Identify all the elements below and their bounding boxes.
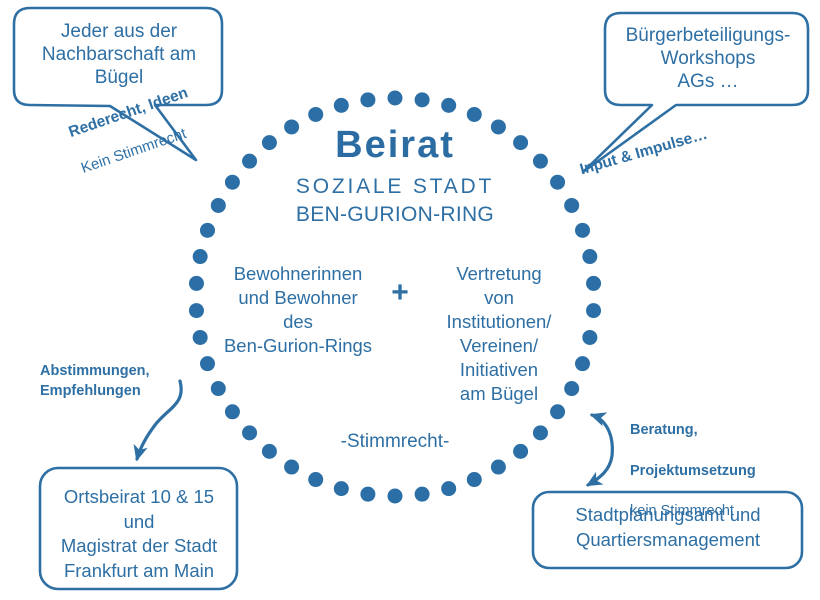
ring-dot xyxy=(388,489,403,504)
ring-dot xyxy=(415,92,430,107)
ring-dot xyxy=(308,472,323,487)
ring-dot xyxy=(533,425,548,440)
ring-dot xyxy=(415,487,430,502)
ring-dot xyxy=(441,98,456,113)
ring-dot xyxy=(193,330,208,345)
ring-dot xyxy=(582,330,597,345)
ring-dot xyxy=(334,481,349,496)
ring-dot xyxy=(200,356,215,371)
ring-dot xyxy=(200,223,215,238)
ring-dot xyxy=(586,276,601,291)
annotation-abstimmungen-empfehlungen: Abstimmungen, Empfehlungen xyxy=(40,362,200,401)
ring-dot xyxy=(491,460,506,475)
annotation-projektumsetzung: Projektumsetzung xyxy=(630,462,810,481)
ring-dot xyxy=(262,444,277,459)
ring-dot xyxy=(441,481,456,496)
ring-dot xyxy=(360,92,375,107)
ring-dot xyxy=(193,249,208,264)
annotation-beratung: Beratung, xyxy=(630,421,810,440)
ring-dot xyxy=(225,404,240,419)
plus-icon: + xyxy=(382,278,418,308)
ring-dot xyxy=(582,249,597,264)
ring-dot xyxy=(211,198,226,213)
ring-dot xyxy=(225,175,240,190)
ring-dot xyxy=(564,198,579,213)
ring-dot xyxy=(550,404,565,419)
box-ortsbeirat-label: Ortsbeirat 10 & 15 und Magistrat der Sta… xyxy=(48,485,230,583)
ring-dot xyxy=(189,276,204,291)
diagram-canvas: Jeder aus der Nachbarschaft am Bügel Bür… xyxy=(0,0,820,600)
ring-dot xyxy=(586,303,601,318)
speech-bubble-top-right-label: Bürgerbeteiligungs- Workshops AGs … xyxy=(612,24,804,94)
ring-dot xyxy=(211,381,226,396)
arrow-ring-to-stadtplanungsamt xyxy=(588,415,612,485)
box-stadtplanungsamt-label: Stadtplanungsamt und Quartiersmanagement xyxy=(545,503,791,552)
ring-dot xyxy=(189,303,204,318)
center-subtitle-ben-gurion-ring: BEN-GURION-RING xyxy=(245,202,545,228)
ring-dot xyxy=(513,444,528,459)
ring-dot xyxy=(550,175,565,190)
ring-dot xyxy=(284,460,299,475)
center-footer-stimmrecht: -Stimmrecht- xyxy=(300,430,490,453)
ring-dot xyxy=(242,425,257,440)
center-column-bewohner: Bewohnerinnen und Bewohner des Ben-Gurio… xyxy=(212,262,384,358)
ring-dot xyxy=(467,107,482,122)
center-subtitle-soziale-stadt: SOZIALE STADT xyxy=(245,174,545,200)
ring-dot xyxy=(360,487,375,502)
center-column-vertretung: Vertretung von Institutionen/ Vereinen/ … xyxy=(418,262,580,406)
ring-dot xyxy=(308,107,323,122)
ring-dot xyxy=(467,472,482,487)
page-title: Beirat xyxy=(245,126,545,164)
ring-dot xyxy=(334,98,349,113)
ring-dot xyxy=(388,91,403,106)
ring-dot xyxy=(575,223,590,238)
